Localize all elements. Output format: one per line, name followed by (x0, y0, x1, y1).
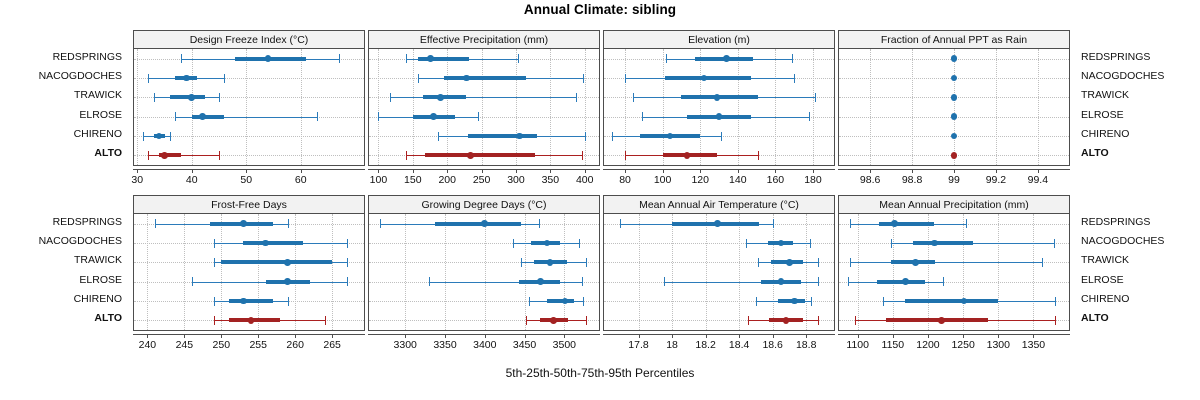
median-point (544, 240, 551, 247)
panel-fraction-of-annual-ppt-as-rain: Fraction of Annual PPT as Rain (838, 30, 1070, 166)
median-point (262, 240, 269, 247)
panel-growing-degree-days-c: Growing Degree Days (°C) (368, 195, 600, 331)
axis-tick-label: 3300 (394, 339, 417, 351)
whisker-cap-p5 (438, 132, 439, 141)
axis-tick-label: 250 (213, 339, 231, 351)
gridline-vertical (963, 214, 964, 330)
axis-tick (998, 334, 999, 338)
panel-strip-title: Mean Annual Air Temperature (°C) (604, 196, 834, 214)
median-point (723, 55, 730, 62)
axis-tick (738, 169, 739, 173)
site-label-trawick: TRAWICK (74, 90, 122, 100)
axis-line (368, 169, 600, 170)
site-labels-left: REDSPRINGSNACOGDOCHESTRAWICKELROSECHIREN… (0, 47, 128, 163)
gridline-vertical (912, 49, 913, 165)
gridline-vertical (332, 214, 333, 330)
whisker-cap-p5 (214, 316, 215, 325)
gridline-vertical (221, 214, 222, 330)
axis-tick (295, 334, 296, 338)
median-point (778, 278, 785, 285)
median-point (931, 240, 938, 247)
axis-tick (564, 334, 565, 338)
site-label-alto: ALTO (94, 313, 122, 323)
panel-plot-area (839, 214, 1069, 330)
whisker-cap-p5 (181, 54, 182, 63)
whisker-line (850, 262, 1042, 263)
panel-plot-area (369, 49, 599, 165)
whisker-cap-p5 (143, 132, 144, 141)
axis-tick-label: 17.8 (628, 339, 648, 351)
axis-tick (585, 169, 586, 173)
whisker-cap-p95 (794, 74, 795, 83)
axis-tick (258, 334, 259, 338)
whisker-cap-p5 (214, 239, 215, 248)
axis-tick (405, 334, 406, 338)
axis-tick (625, 169, 626, 173)
axis-tick-label: 1100 (846, 339, 869, 351)
iqr-box (435, 222, 522, 226)
median-point (467, 152, 474, 159)
iqr-box (229, 299, 273, 303)
axis-tick-label: 255 (249, 339, 267, 351)
whisker-cap-p5 (758, 258, 759, 267)
whisker-cap-p5 (429, 277, 430, 286)
site-label-redsprings: REDSPRINGS (1081, 217, 1150, 227)
axis-tick-label: 50 (240, 174, 252, 186)
site-label-elrose: ELROSE (1081, 110, 1124, 120)
site-label-trawick: TRAWICK (1081, 255, 1129, 265)
axis-tick-label: 150 (404, 174, 422, 186)
site-label-nacogdoches: NACOGDOCHES (39, 236, 122, 246)
whisker-cap-p95 (583, 74, 584, 83)
site-label-redsprings: REDSPRINGS (1081, 52, 1150, 62)
whisker-cap-p5 (891, 239, 892, 248)
whisker-cap-p95 (585, 132, 586, 141)
gridline-vertical (564, 214, 565, 330)
page-title: Annual Climate: sibling (0, 2, 1200, 17)
gridline-vertical (147, 214, 148, 330)
median-point (714, 220, 721, 227)
whisker-cap-p95 (810, 239, 811, 248)
gridline-vertical (413, 49, 414, 165)
axis-tick-label: 180 (804, 174, 822, 186)
axis-tick (147, 334, 148, 338)
whisker-cap-p95 (792, 54, 793, 63)
gridline-vertical (639, 214, 640, 330)
gridline-vertical (585, 49, 586, 165)
whisker-cap-p95 (818, 316, 819, 325)
whisker-cap-p5 (214, 258, 215, 267)
axis-tick-label: 1150 (882, 339, 905, 351)
axis-tick (639, 334, 640, 338)
whisker-cap-p95 (1042, 258, 1043, 267)
median-point (951, 113, 958, 120)
gridline-vertical (1033, 214, 1034, 330)
whisker-cap-p95 (288, 219, 289, 228)
x-axis-caption: 5th-25th-50th-75th-95th Percentiles (0, 366, 1200, 380)
gridline-vertical (893, 214, 894, 330)
axis-tick-label: 240 (139, 339, 157, 351)
gridline-vertical (184, 214, 185, 330)
axis-line (133, 169, 365, 170)
x-axis: 98.698.89999.299.4 (838, 169, 1070, 191)
whisker-cap-p5 (406, 54, 407, 63)
panel-strip-title: Elevation (m) (604, 31, 834, 49)
whisker-cap-p95 (586, 258, 587, 267)
axis-tick-label: 3500 (553, 339, 576, 351)
site-label-nacogdoches: NACOGDOCHES (1081, 71, 1164, 81)
axis-tick (447, 169, 448, 173)
gridline-vertical (1038, 49, 1039, 165)
axis-tick-label: 260 (286, 339, 304, 351)
iqr-box (665, 76, 751, 80)
whisker-cap-p95 (583, 297, 584, 306)
gridline-vertical (806, 214, 807, 330)
gridline-vertical (928, 214, 929, 330)
axis-tick-label: 100 (370, 174, 388, 186)
whisker-cap-p5 (883, 297, 884, 306)
median-point (562, 298, 569, 305)
axis-tick-label: 350 (542, 174, 560, 186)
gridline-vertical (739, 214, 740, 330)
panel-strip-title: Mean Annual Precipitation (mm) (839, 196, 1069, 214)
whisker-cap-p95 (943, 277, 944, 286)
whisker-cap-p95 (347, 258, 348, 267)
panel-plot-area (604, 49, 834, 165)
gridline-vertical (485, 214, 486, 330)
axis-tick (413, 169, 414, 173)
iqr-box (423, 95, 466, 99)
gridline-vertical (192, 49, 193, 165)
panel-mean-annual-air-temperature-c: Mean Annual Air Temperature (°C) (603, 195, 835, 331)
gridline-vertical (625, 49, 626, 165)
whisker-cap-p95 (579, 239, 580, 248)
iqr-box (913, 241, 973, 245)
gridline-vertical (738, 49, 739, 165)
axis-tick-label: 18.4 (729, 339, 749, 351)
whisker-cap-p95 (818, 277, 819, 286)
whisker-cap-p5 (513, 239, 514, 248)
whisker-cap-p95 (347, 239, 348, 248)
axis-tick-label: 99 (948, 174, 960, 186)
whisker-cap-p5 (620, 219, 621, 228)
axis-tick-label: 40 (186, 174, 198, 186)
axis-tick (912, 169, 913, 173)
axis-tick (663, 169, 664, 173)
axis-line (603, 169, 835, 170)
iqr-box (905, 299, 998, 303)
gridline-vertical (773, 214, 774, 330)
gridline-vertical (137, 49, 138, 165)
axis-tick (813, 169, 814, 173)
whisker-cap-p95 (219, 93, 220, 102)
median-point (516, 133, 523, 140)
whisker-cap-p5 (756, 297, 757, 306)
whisker-cap-p95 (1055, 297, 1056, 306)
whisker-cap-p95 (478, 112, 479, 121)
gridline-vertical (550, 49, 551, 165)
axis-tick (858, 334, 859, 338)
axis-tick (332, 334, 333, 338)
median-point (701, 75, 708, 82)
axis-tick (928, 334, 929, 338)
site-label-alto: ALTO (1081, 148, 1109, 158)
axis-tick-label: 140 (729, 174, 747, 186)
iqr-box (425, 153, 535, 157)
gridline-vertical (663, 49, 664, 165)
axis-tick (954, 169, 955, 173)
median-point (284, 278, 291, 285)
axis-tick-label: 250 (473, 174, 491, 186)
axis-tick (996, 169, 997, 173)
whisker-cap-p95 (966, 219, 967, 228)
median-point (156, 133, 163, 140)
panel-elevation-m: Elevation (m) (603, 30, 835, 166)
panel-strip-title: Effective Precipitation (mm) (369, 31, 599, 49)
median-point (961, 298, 968, 305)
median-point (951, 55, 958, 62)
whisker-cap-p5 (855, 316, 856, 325)
gridline-vertical (706, 214, 707, 330)
climate-chart-figure: Annual Climate: sibling 5th-25th-50th-75… (0, 0, 1200, 400)
median-point (786, 259, 793, 266)
axis-tick-label: 98.6 (860, 174, 880, 186)
site-label-chireno: CHIRENO (1081, 129, 1129, 139)
whisker-cap-p5 (748, 316, 749, 325)
median-point (791, 298, 798, 305)
site-label-elrose: ELROSE (79, 275, 122, 285)
axis-tick-label: 18.6 (762, 339, 782, 351)
site-label-chireno: CHIRENO (74, 294, 122, 304)
axis-tick-label: 18.8 (796, 339, 816, 351)
gridline-vertical (870, 49, 871, 165)
panel-mean-annual-precipitation-mm: Mean Annual Precipitation (mm) (838, 195, 1070, 331)
axis-tick-label: 120 (691, 174, 709, 186)
whisker-cap-p95 (586, 316, 587, 325)
axis-tick (445, 334, 446, 338)
whisker-cap-p95 (815, 93, 816, 102)
gridline-vertical (301, 49, 302, 165)
median-point (684, 152, 691, 159)
panel-plot-area (839, 49, 1069, 165)
gridline-vertical (445, 214, 446, 330)
axis-tick-label: 18 (666, 339, 678, 351)
axis-tick (221, 334, 222, 338)
axis-tick-label: 80 (619, 174, 631, 186)
whisker-cap-p95 (773, 219, 774, 228)
iqr-box (221, 260, 332, 264)
axis-tick (870, 169, 871, 173)
median-point (284, 259, 291, 266)
axis-tick (893, 334, 894, 338)
whisker-cap-p5 (625, 151, 626, 160)
median-point (240, 220, 247, 227)
median-point (430, 113, 437, 120)
axis-tick-label: 3400 (473, 339, 496, 351)
site-labels-right: REDSPRINGSNACOGDOCHESTRAWICKELROSECHIREN… (1075, 47, 1195, 163)
iqr-box (547, 299, 574, 303)
axis-tick (482, 169, 483, 173)
median-point (183, 75, 190, 82)
whisker-cap-p95 (576, 93, 577, 102)
gridline-vertical (516, 49, 517, 165)
axis-tick-label: 200 (438, 174, 456, 186)
axis-tick-label: 1250 (951, 339, 974, 351)
whisker-cap-p5 (664, 277, 665, 286)
site-label-redsprings: REDSPRINGS (53, 217, 122, 227)
axis-tick-label: 1200 (916, 339, 939, 351)
iqr-box (243, 241, 302, 245)
axis-tick (1033, 334, 1034, 338)
iqr-box (229, 318, 281, 322)
x-axis: 110011501200125013001350 (838, 334, 1070, 356)
panel-effective-precipitation-mm: Effective Precipitation (mm) (368, 30, 600, 166)
iqr-box (192, 115, 225, 119)
site-label-alto: ALTO (94, 148, 122, 158)
median-point (951, 75, 958, 82)
median-point (265, 55, 272, 62)
axis-tick (775, 169, 776, 173)
panel-strip-title: Frost-Free Days (134, 196, 364, 214)
gridline-vertical (700, 49, 701, 165)
site-labels-right: REDSPRINGSNACOGDOCHESTRAWICKELROSECHIREN… (1075, 212, 1195, 328)
median-point (951, 152, 958, 159)
gridline-vertical (378, 49, 379, 165)
whisker-cap-p5 (155, 219, 156, 228)
whisker-cap-p5 (390, 93, 391, 102)
axis-tick (192, 169, 193, 173)
x-axis: 240245250255260265 (133, 334, 365, 356)
whisker-cap-p5 (148, 74, 149, 83)
whisker-cap-p95 (317, 112, 318, 121)
site-label-elrose: ELROSE (79, 110, 122, 120)
axis-tick (246, 169, 247, 173)
gridline-vertical (482, 49, 483, 165)
gridline-vertical (405, 214, 406, 330)
axis-tick-label: 98.8 (902, 174, 922, 186)
median-point (938, 317, 945, 324)
gridline-vertical (447, 49, 448, 165)
x-axis: 33003350340034503500 (368, 334, 600, 356)
whisker-cap-p95 (518, 54, 519, 63)
whisker-cap-p95 (811, 297, 812, 306)
whisker-cap-p95 (224, 74, 225, 83)
axis-tick-label: 99.2 (986, 174, 1006, 186)
median-point (248, 317, 255, 324)
site-label-chireno: CHIRENO (74, 129, 122, 139)
axis-tick (672, 334, 673, 338)
gridline-vertical (858, 214, 859, 330)
axis-tick (706, 334, 707, 338)
median-point (547, 259, 554, 266)
axis-tick (1038, 169, 1039, 173)
iqr-box (418, 57, 469, 61)
site-labels-left: REDSPRINGSNACOGDOCHESTRAWICKELROSECHIREN… (0, 212, 128, 328)
site-label-redsprings: REDSPRINGS (53, 52, 122, 62)
median-point (427, 55, 434, 62)
iqr-box (879, 222, 934, 226)
median-point (240, 298, 247, 305)
median-point (463, 75, 470, 82)
whisker-cap-p5 (214, 297, 215, 306)
whisker-cap-p5 (746, 239, 747, 248)
gridline-vertical (258, 214, 259, 330)
panel-plot-area (369, 214, 599, 330)
whisker-cap-p5 (148, 151, 149, 160)
gridline-vertical (996, 49, 997, 165)
whisker-cap-p5 (642, 112, 643, 121)
x-axis: 17.81818.218.418.618.8 (603, 334, 835, 356)
gridline-vertical (672, 214, 673, 330)
whisker-cap-p5 (378, 112, 379, 121)
gridline-vertical (998, 214, 999, 330)
axis-tick-label: 3350 (433, 339, 456, 351)
x-axis: 80100120140160180 (603, 169, 835, 191)
axis-tick (773, 334, 774, 338)
axis-tick-label: 3450 (513, 339, 536, 351)
whisker-cap-p95 (1054, 239, 1055, 248)
whisker-cap-p95 (339, 54, 340, 63)
iqr-box (468, 134, 537, 138)
whisker-cap-p95 (325, 316, 326, 325)
whisker-cap-p5 (192, 277, 193, 286)
axis-tick (739, 334, 740, 338)
median-point (783, 317, 790, 324)
whisker-cap-p95 (582, 277, 583, 286)
whisker-cap-p95 (809, 112, 810, 121)
median-point (199, 113, 206, 120)
axis-tick (700, 169, 701, 173)
median-point (161, 152, 168, 159)
axis-tick (525, 334, 526, 338)
axis-tick (963, 334, 964, 338)
axis-tick-label: 60 (295, 174, 307, 186)
whisker-cap-p95 (758, 151, 759, 160)
median-point (714, 94, 721, 101)
axis-tick (301, 169, 302, 173)
axis-tick-label: 300 (507, 174, 525, 186)
whisker-cap-p5 (380, 219, 381, 228)
whisker-cap-p5 (529, 297, 530, 306)
axis-tick (184, 334, 185, 338)
axis-tick (550, 169, 551, 173)
whisker-cap-p5 (612, 132, 613, 141)
median-point (891, 220, 898, 227)
x-axis: 100150200250300350400 (368, 169, 600, 191)
iqr-box (886, 318, 988, 322)
whisker-cap-p5 (418, 74, 419, 83)
whisker-cap-p5 (666, 54, 667, 63)
gridline-vertical (246, 49, 247, 165)
axis-line (133, 334, 365, 335)
axis-tick (378, 169, 379, 173)
site-label-chireno: CHIRENO (1081, 294, 1129, 304)
gridline-vertical (813, 49, 814, 165)
axis-tick (137, 169, 138, 173)
panel-strip-title: Fraction of Annual PPT as Rain (839, 31, 1069, 49)
median-point (550, 317, 557, 324)
site-label-elrose: ELROSE (1081, 275, 1124, 285)
whisker-cap-p5 (406, 151, 407, 160)
whisker-cap-p95 (721, 132, 722, 141)
axis-tick-label: 265 (323, 339, 341, 351)
axis-tick-label: 100 (654, 174, 672, 186)
axis-tick (485, 334, 486, 338)
site-label-alto: ALTO (1081, 313, 1109, 323)
panel-frost-free-days: Frost-Free Days (133, 195, 365, 331)
whisker-line (390, 97, 576, 98)
panel-strip-title: Design Freeze Index (°C) (134, 31, 364, 49)
